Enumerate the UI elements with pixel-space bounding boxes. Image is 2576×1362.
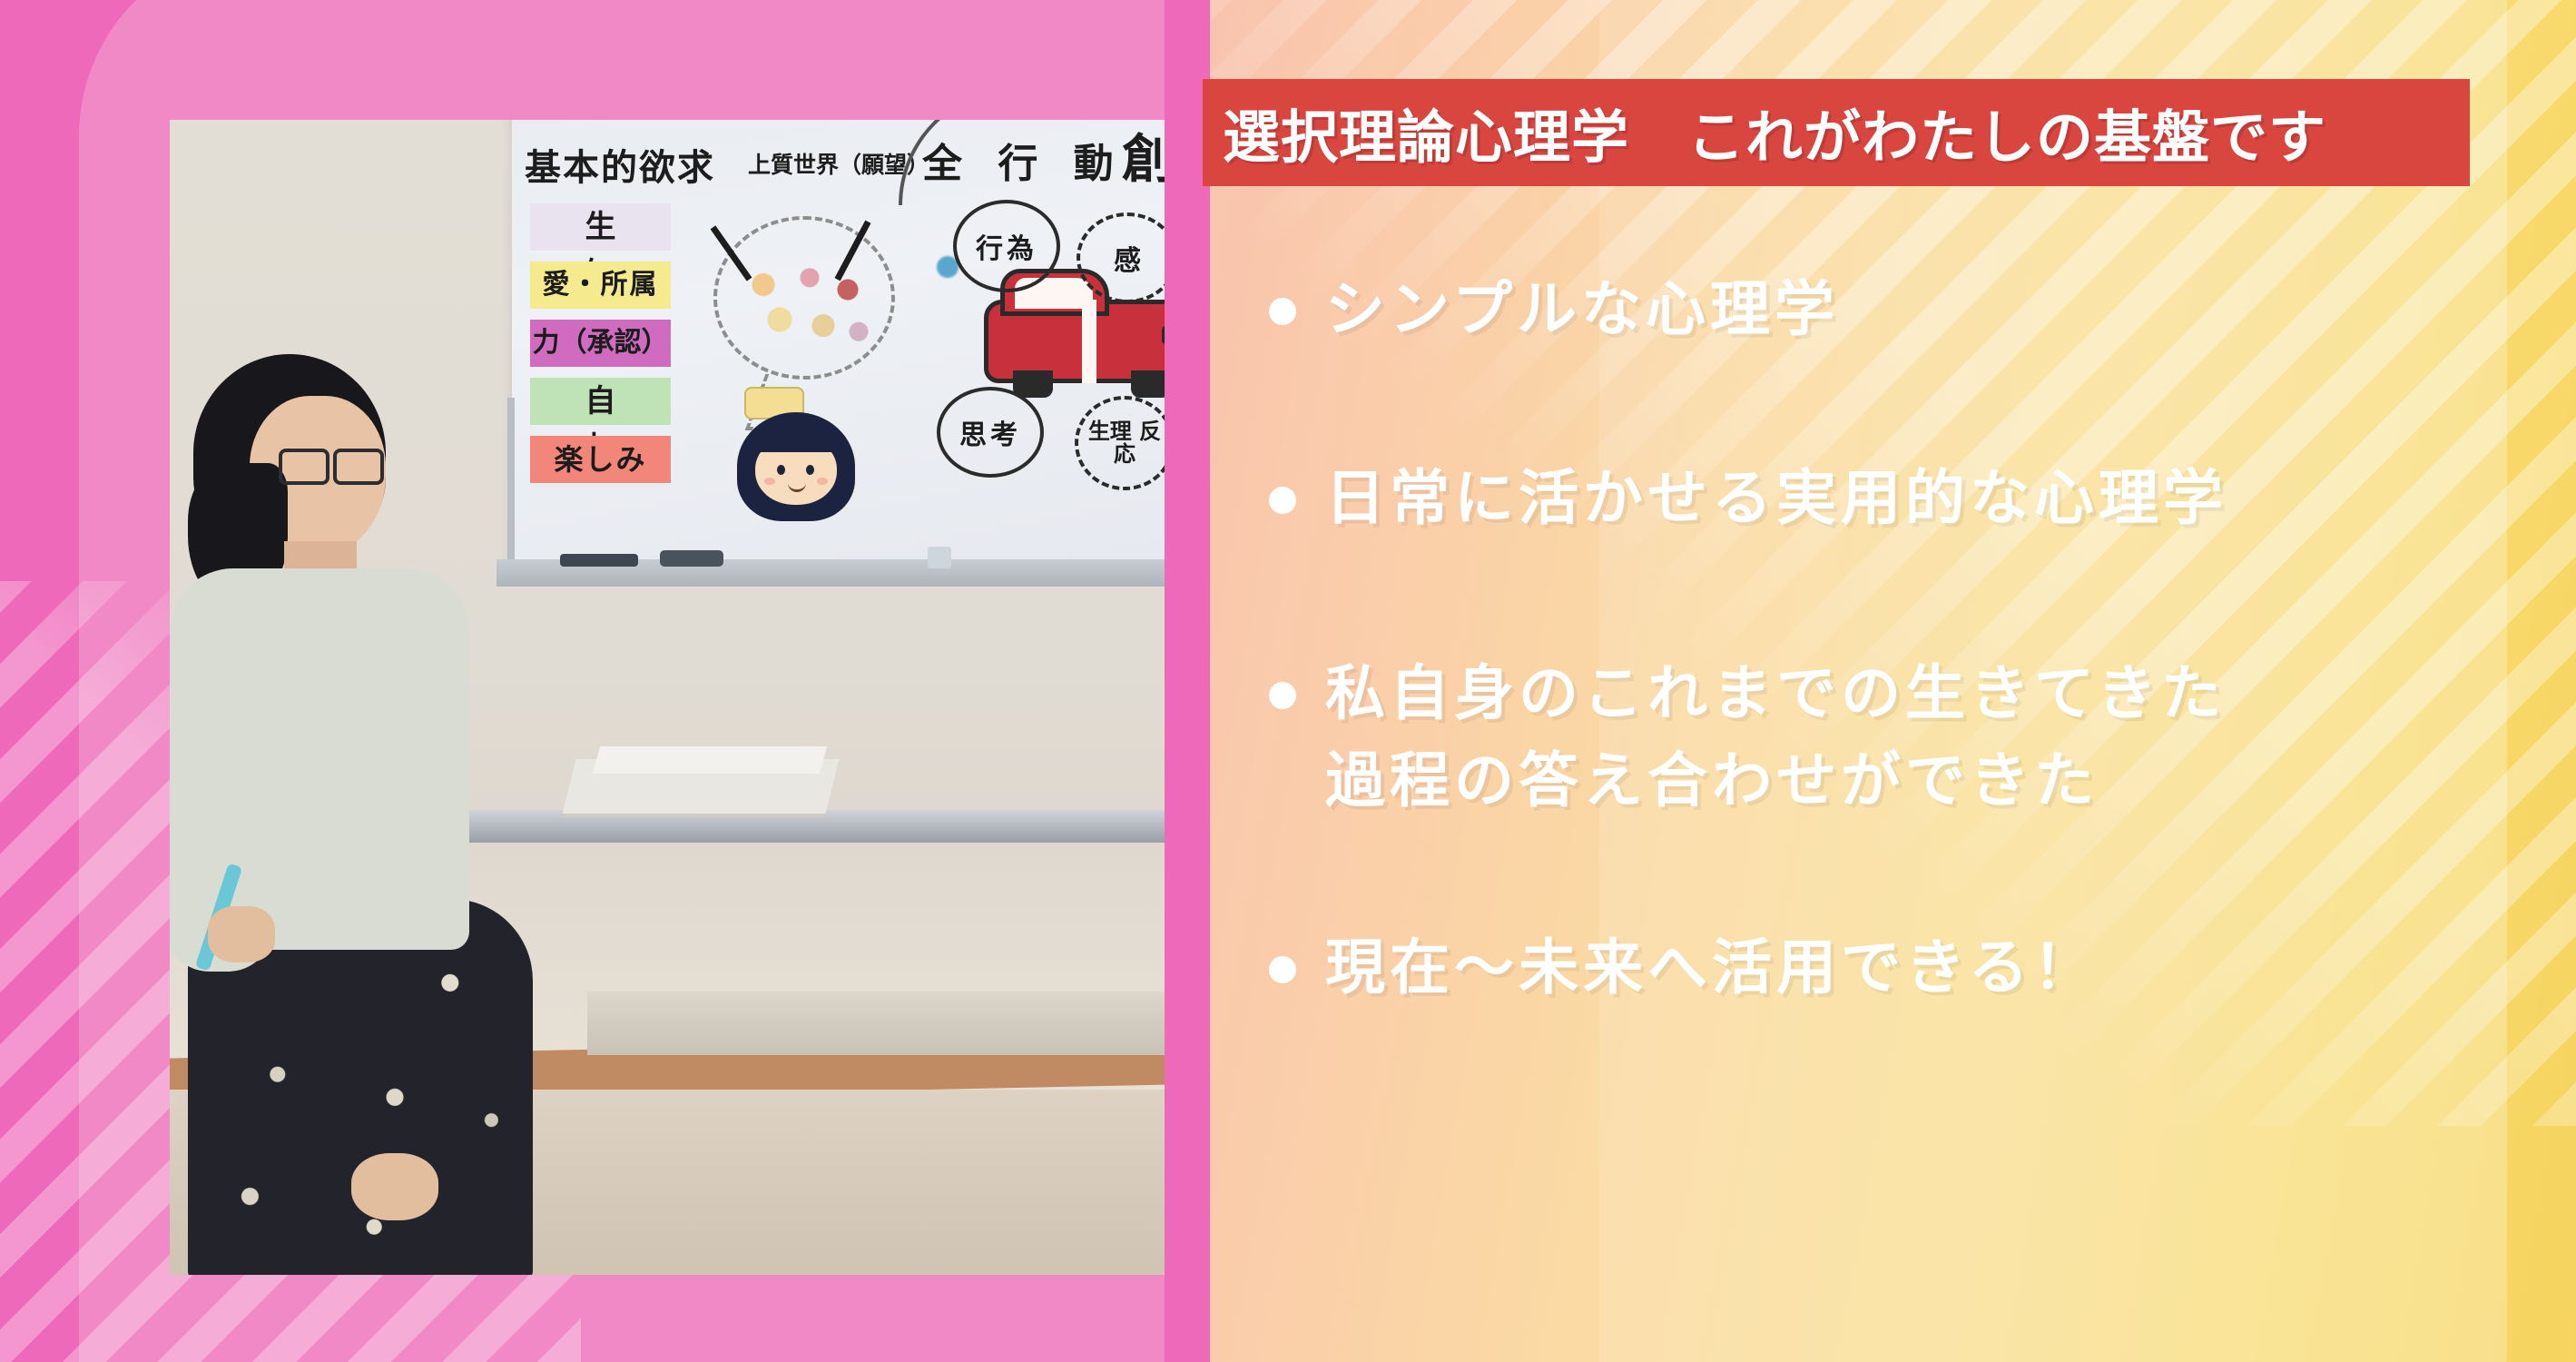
girl-eye-right <box>806 465 814 475</box>
bullet-line: 現在〜未来へ活用できる！ <box>1325 923 2098 1011</box>
bullet-line: 私自身のこれまでの生きてきた <box>1325 649 2226 736</box>
bullet-dot-icon <box>1269 956 1296 983</box>
whiteboard-picture-cards <box>739 260 875 360</box>
bullet-text-3: 私自身のこれまでの生きてきた 過程の答え合わせができた <box>1325 649 2226 824</box>
photo-papers-top <box>593 746 828 774</box>
whiteboard-need-power: 力（承認） <box>530 320 671 367</box>
whiteboard-need-freedom: 自 由 <box>530 378 671 425</box>
bullet-list: シンプルな心理学 日常に活かせる実用的な心理学 私自身のこれまでの生きてきた 過… <box>1269 265 2558 1012</box>
woman-glasses <box>279 449 386 479</box>
bullet-dot-icon <box>1269 682 1296 709</box>
whiteboard-circle-acting: 行為 <box>953 200 1060 292</box>
whiteboard: 基本的欲求 上質世界（願望） 全 行 動 創 生 存 愛・所属 力（承認） 自 … <box>512 120 1165 559</box>
girl-bangs <box>752 427 841 452</box>
whiteboard-circle-physiology: 生理 反応 <box>1075 396 1165 490</box>
bullet-line: シンプルな心理学 <box>1325 265 1839 352</box>
whiteboard-arc <box>899 120 1165 205</box>
bullet-text-1: シンプルな心理学 <box>1325 265 1839 352</box>
whiteboard-need-fun: 楽しみ <box>530 436 671 483</box>
bullet-line: 過程の答え合わせができた <box>1325 736 2226 824</box>
whiteboard-circle-thinking: 思考 <box>937 387 1044 478</box>
girl-cheek-right <box>817 478 828 485</box>
bullet-text-2: 日常に活かせる実用的な心理学 <box>1325 454 2227 541</box>
girl-eye-left <box>777 465 785 475</box>
car-wheel-right <box>1131 370 1165 398</box>
car-stripe <box>1082 300 1096 383</box>
bullet-item-4: 現在〜未来へ活用できる！ <box>1269 923 2558 1011</box>
girl-cheek-left <box>764 478 775 485</box>
seminar-photo: 基本的欲求 上質世界（願望） 全 行 動 創 生 存 愛・所属 力（承認） 自 … <box>170 120 1165 1275</box>
whiteboard-need-love-belonging: 愛・所属 <box>530 262 671 309</box>
photo-bench <box>587 992 1165 1055</box>
car-headlight <box>1162 325 1165 345</box>
bullet-line: 日常に活かせる実用的な心理学 <box>1325 454 2227 541</box>
photo-woman <box>170 354 551 1275</box>
page-title: 選択理論心理学 これがわたしの基盤です <box>1203 92 2326 174</box>
bullet-item-1: シンプルな心理学 <box>1269 265 2558 352</box>
bullet-text-4: 現在〜未来へ活用できる！ <box>1325 923 2098 1011</box>
woman-hand-right <box>351 1153 438 1220</box>
whiteboard-eraser <box>928 547 951 568</box>
bullet-item-3: 私自身のこれまでの生きてきた 過程の答え合わせができた <box>1269 649 2558 824</box>
whiteboard-marker-2 <box>660 550 723 567</box>
whiteboard-heading-basic-needs: 基本的欲求 <box>525 138 715 191</box>
bullet-item-2: 日常に活かせる実用的な心理学 <box>1269 454 2558 541</box>
title-bar: 選択理論心理学 これがわたしの基盤です <box>1203 79 2470 186</box>
whiteboard-need-survival: 生 存 <box>530 203 671 251</box>
whiteboard-girl-illustration <box>737 412 855 521</box>
woman-hand-left <box>208 906 275 962</box>
bullet-dot-icon <box>1269 298 1296 325</box>
bullet-dot-icon <box>1269 487 1296 514</box>
slide-root: 基本的欲求 上質世界（願望） 全 行 動 創 生 存 愛・所属 力（承認） 自 … <box>0 0 2576 1362</box>
whiteboard-marker-1 <box>560 554 638 567</box>
